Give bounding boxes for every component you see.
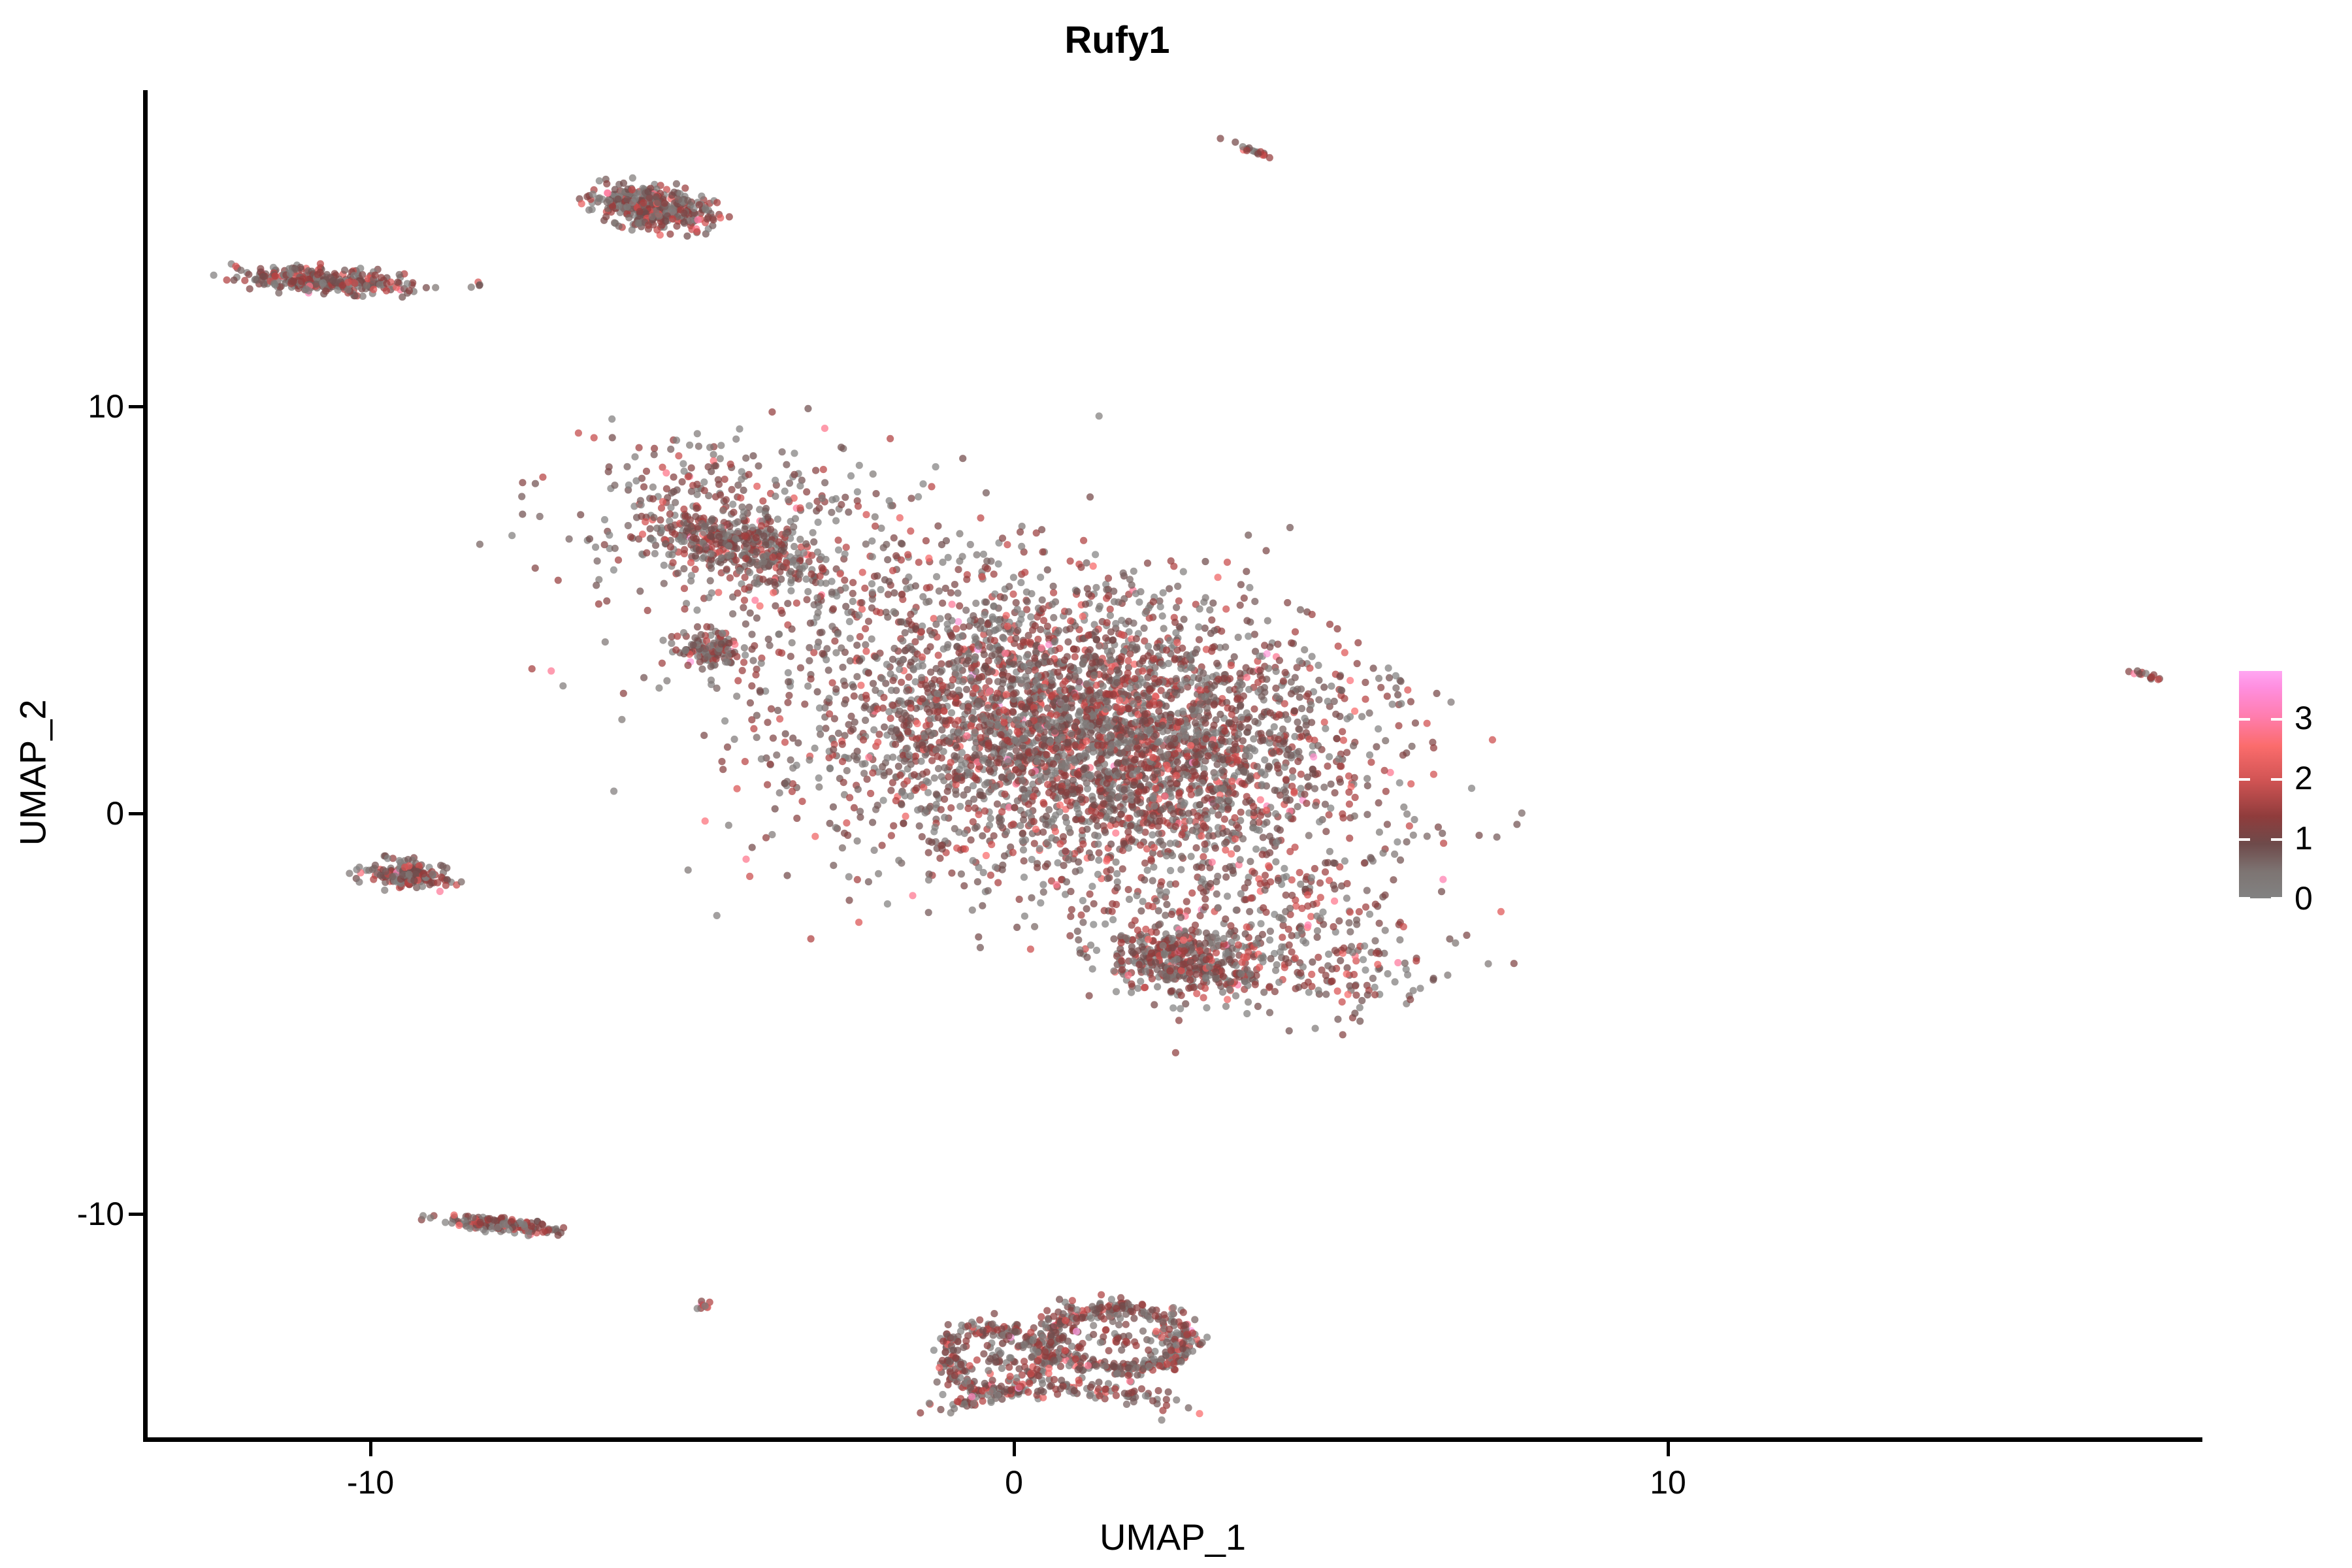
- x-tick-mark-1: [1013, 1442, 1016, 1456]
- x-tick-label-1: 0: [1005, 1463, 1023, 1501]
- y-tick-mark-2: [129, 1213, 143, 1216]
- x-tick-label-0: -10: [347, 1463, 394, 1501]
- y-axis-line: [143, 90, 148, 1441]
- y-axis-title: UMAP_2: [12, 544, 54, 1002]
- legend-tick-2-right: [2271, 778, 2282, 781]
- y-tick-mark-0: [129, 405, 143, 408]
- legend-label-2: 2: [2295, 759, 2313, 797]
- scatter-points-layer: [148, 91, 2202, 1437]
- x-tick-label-2: 10: [1650, 1463, 1686, 1501]
- y-tick-mark-1: [129, 812, 143, 815]
- page-title: Rufy1: [0, 18, 2234, 62]
- x-tick-mark-2: [1667, 1442, 1670, 1456]
- y-tick-label-0: 10: [88, 387, 124, 425]
- legend-label-0: 0: [2295, 879, 2313, 917]
- legend-tick-3-right: [2271, 718, 2282, 721]
- legend-tick-3-left: [2239, 718, 2250, 721]
- umap-feature-plot: Rufy1 10 0 -10 -10 0 10 UMAP_1 UMAP_2 3 …: [0, 0, 2352, 1568]
- legend-tick-1-left: [2239, 838, 2250, 841]
- legend-label-1: 1: [2295, 819, 2313, 857]
- x-tick-mark-0: [369, 1442, 372, 1456]
- legend-tick-0-left: [2239, 897, 2250, 900]
- y-tick-label-2: -10: [77, 1195, 124, 1233]
- legend-label-3: 3: [2295, 699, 2313, 737]
- color-legend: 3 2 1 0: [2234, 663, 2352, 911]
- x-axis-line: [143, 1437, 2202, 1442]
- legend-colorbar: [2239, 671, 2282, 898]
- y-tick-label-1: 0: [106, 794, 124, 832]
- legend-tick-1-right: [2271, 838, 2282, 841]
- legend-tick-2-left: [2239, 778, 2250, 781]
- x-axis-title: UMAP_1: [143, 1516, 2202, 1558]
- scatter-svg: [148, 91, 2202, 1437]
- plot-panel: [148, 91, 2202, 1437]
- legend-tick-0-right: [2271, 897, 2282, 900]
